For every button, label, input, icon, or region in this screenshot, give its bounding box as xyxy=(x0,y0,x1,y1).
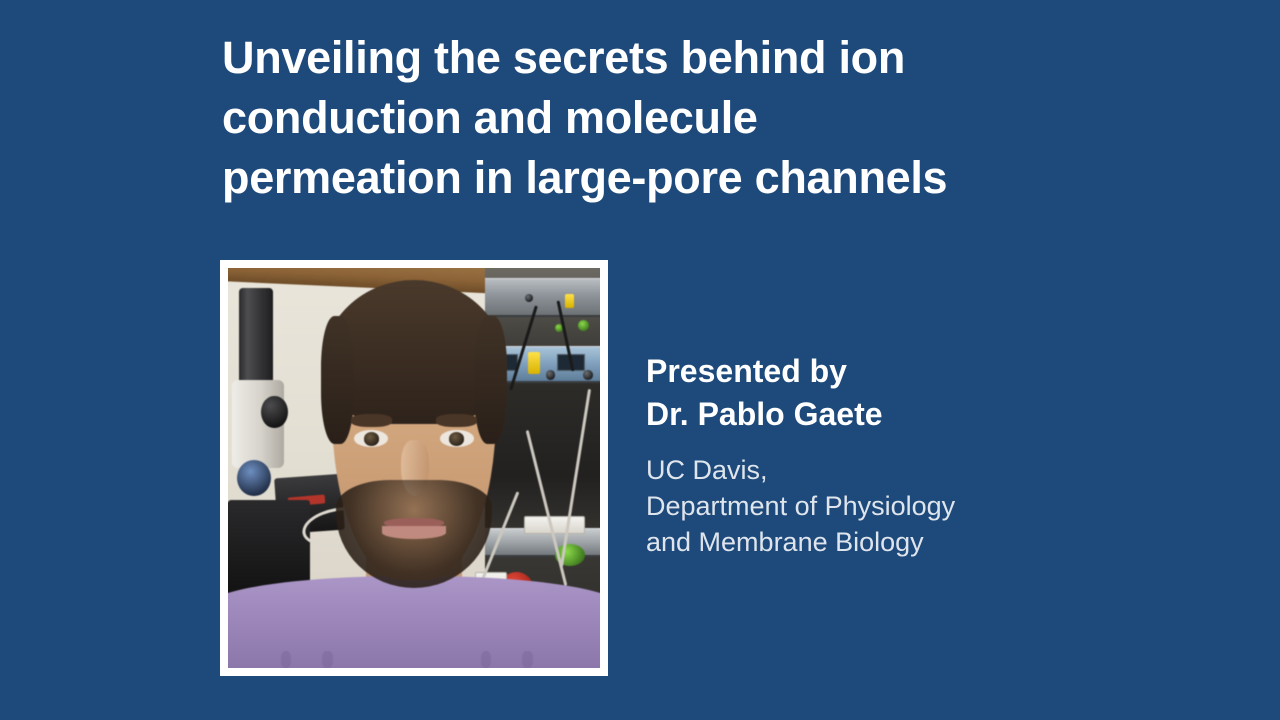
iris-right xyxy=(449,432,465,446)
eyebrow-right xyxy=(436,414,477,427)
presenter-name: Dr. Pablo Gaete xyxy=(646,393,1166,436)
white-module xyxy=(524,516,586,534)
title-line-3: permeation in large-pore channels xyxy=(222,148,1092,208)
shirt-fold-3 xyxy=(481,651,491,668)
presentation-slide: Unveiling the secrets behind ion conduct… xyxy=(0,0,1280,720)
instrument-knob-2 xyxy=(546,370,556,380)
rack-instrument-top xyxy=(485,278,600,317)
presenter-affiliation: UC Davis, Department of Physiology and M… xyxy=(646,452,1166,560)
iris-left xyxy=(364,432,380,446)
purple-tshirt xyxy=(228,576,600,668)
presenter-photo xyxy=(228,268,600,668)
shirt-fold-4 xyxy=(522,651,532,668)
hair-left xyxy=(321,316,354,444)
shirt-fold-2 xyxy=(322,651,332,668)
presenter-info: Presented by Dr. Pablo Gaete UC Davis, D… xyxy=(646,350,1166,560)
title-line-1: Unveiling the secrets behind ion xyxy=(222,28,1092,88)
eyebrow-left xyxy=(351,414,392,427)
microscope-focus-knob xyxy=(261,396,287,428)
yellow-connector-3 xyxy=(565,294,574,308)
lower-lip xyxy=(382,526,445,539)
instrument-knob-3 xyxy=(583,370,593,380)
title-line-2: conduction and molecule xyxy=(222,88,1092,148)
hair-right xyxy=(474,316,507,444)
presented-by-label: Presented by xyxy=(646,350,1166,393)
slide-title: Unveiling the secrets behind ion conduct… xyxy=(222,28,1092,208)
microscope-objective xyxy=(237,460,270,496)
instrument-knob-4 xyxy=(525,294,533,302)
affiliation-line-1: UC Davis, xyxy=(646,452,1166,488)
green-indicator-1 xyxy=(578,320,589,331)
shirt-fold-1 xyxy=(281,651,291,668)
affiliation-line-2: Department of Physiology xyxy=(646,488,1166,524)
presenter-photo-frame xyxy=(220,260,608,676)
microscope-eyepiece xyxy=(239,288,272,392)
yellow-connector-1 xyxy=(528,352,541,374)
affiliation-line-3: and Membrane Biology xyxy=(646,524,1166,560)
